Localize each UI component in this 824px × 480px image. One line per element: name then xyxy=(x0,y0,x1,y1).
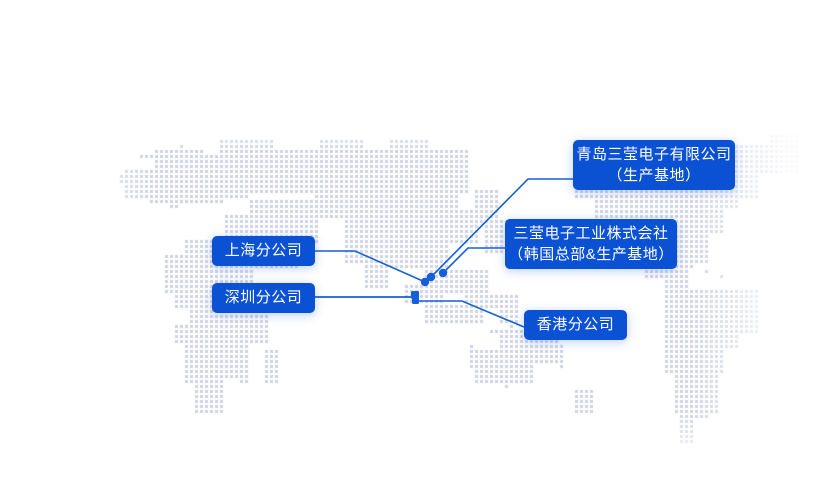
location-label-shenzhen-line1: 深圳分公司 xyxy=(225,287,303,308)
connector-hongkong xyxy=(416,301,524,327)
location-label-shenzhen[interactable]: 深圳分公司 xyxy=(212,283,315,313)
location-label-hongkong-line1: 香港分公司 xyxy=(537,314,615,335)
location-label-qingdao-line2: （生产基地） xyxy=(607,165,700,186)
location-label-qingdao-line1: 青岛三莹电子有限公司 xyxy=(577,144,732,165)
location-label-hongkong[interactable]: 香港分公司 xyxy=(524,310,627,340)
map-node-shanghai[interactable] xyxy=(421,278,429,286)
map-node-korea[interactable] xyxy=(439,269,447,277)
connector-layer xyxy=(0,0,824,480)
location-label-shanghai-line1: 上海分公司 xyxy=(225,240,303,261)
map-node-hongkong[interactable] xyxy=(412,297,419,304)
location-label-qingdao[interactable]: 青岛三莹电子有限公司 （生产基地） xyxy=(573,140,735,190)
connector-korea xyxy=(443,248,505,273)
location-label-shanghai[interactable]: 上海分公司 xyxy=(212,236,315,266)
connector-shanghai xyxy=(315,251,425,282)
location-label-korea[interactable]: 三莹电子工业株式会社 （韩国总部&生产基地） xyxy=(505,219,677,269)
location-label-korea-line2: （韩国总部&生产基地） xyxy=(508,244,674,265)
location-label-korea-line1: 三莹电子工业株式会社 xyxy=(514,223,669,244)
world-map-panel: 青岛三莹电子有限公司 （生产基地） 三莹电子工业株式会社 （韩国总部&生产基地）… xyxy=(0,0,824,480)
